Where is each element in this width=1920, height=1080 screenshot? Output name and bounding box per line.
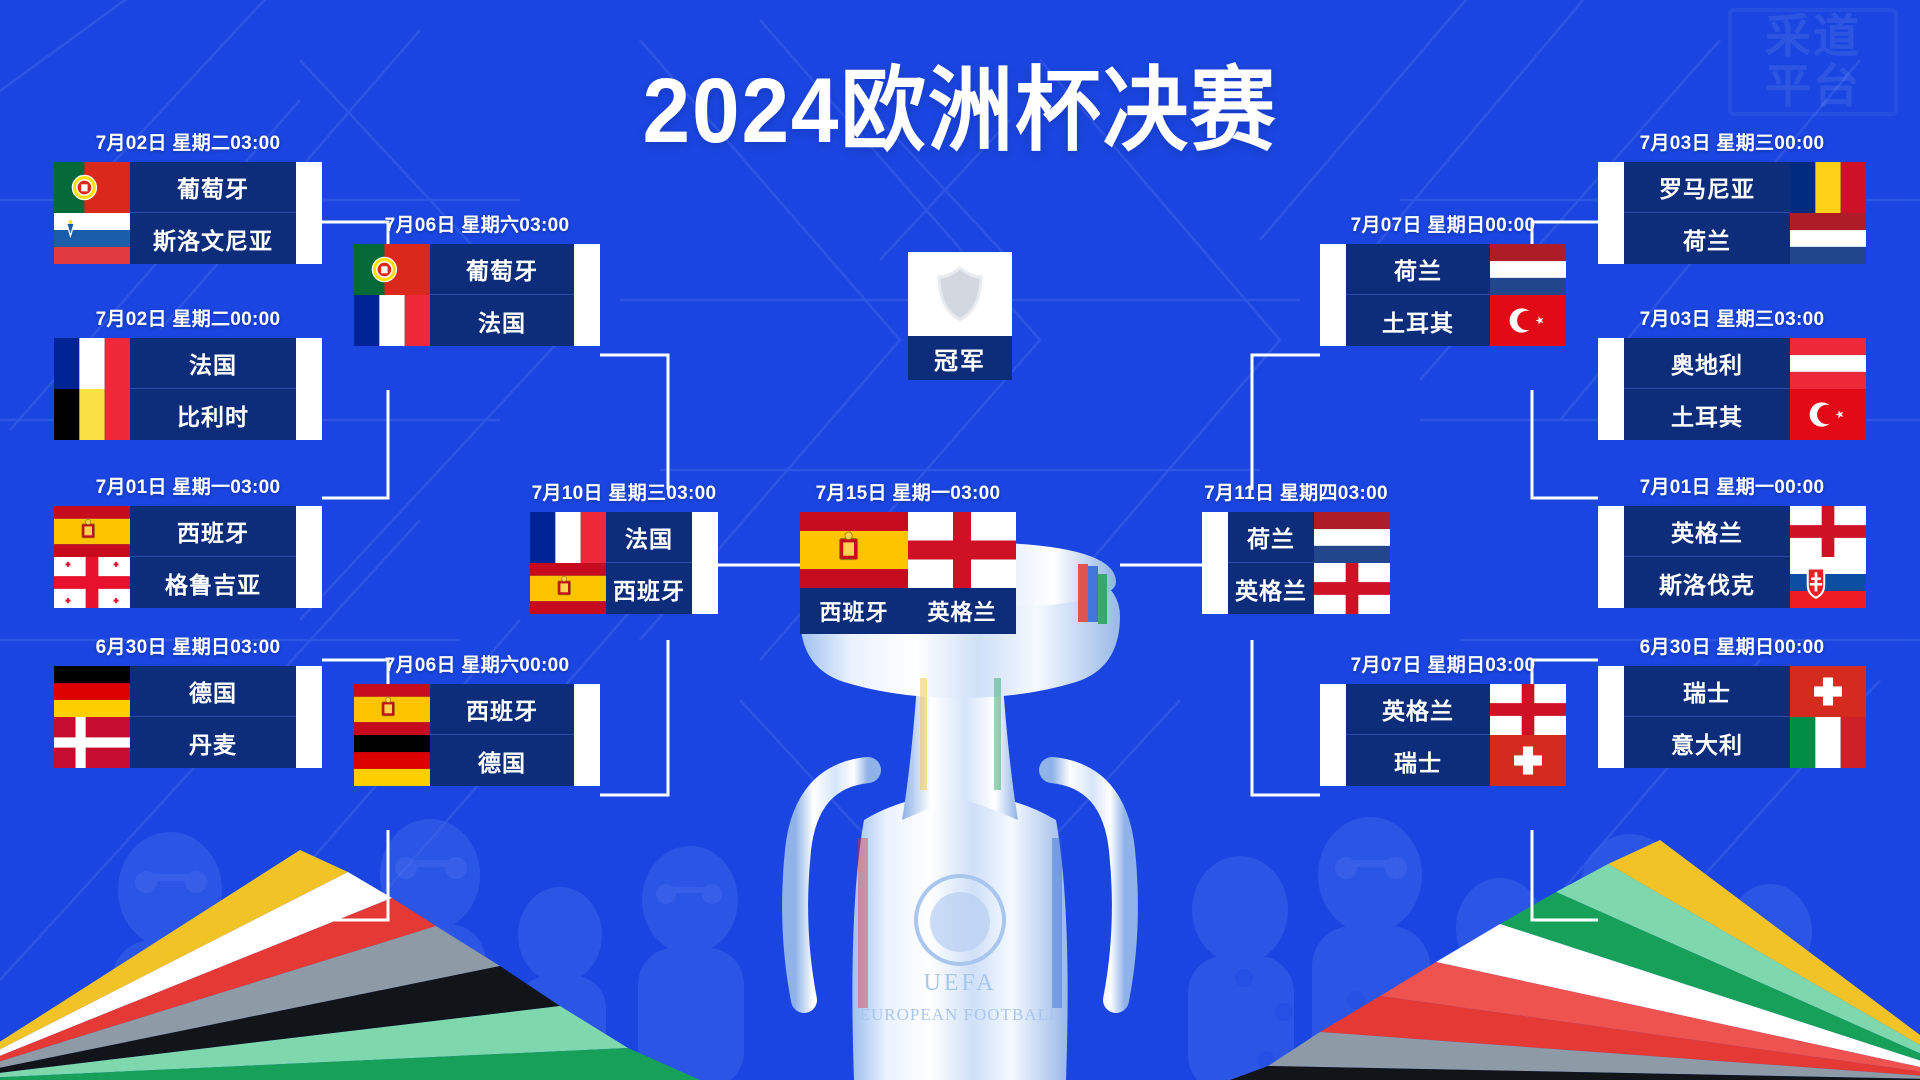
- team-flag: [354, 295, 430, 346]
- team-flag: [354, 735, 430, 786]
- row-tail: [1598, 666, 1624, 717]
- match-date: 7月11日 星期四03:00: [1202, 478, 1390, 505]
- row-tail: [692, 512, 718, 563]
- row-tail: [692, 563, 718, 614]
- row-tail: [574, 295, 600, 346]
- match-date: 7月06日 星期六00:00: [354, 650, 600, 677]
- table-row[interactable]: 英格兰: [1202, 563, 1390, 614]
- team-flag: [1490, 295, 1566, 346]
- match-date: 7月10日 星期三03:00: [530, 478, 718, 505]
- match-date: 7月07日 星期日00:00: [1320, 210, 1566, 237]
- table-row[interactable]: 法国: [354, 295, 600, 346]
- team-flag: [1490, 244, 1566, 295]
- team-flag: [1790, 666, 1866, 717]
- team-flag: [1790, 557, 1866, 608]
- row-tail: [1598, 506, 1624, 557]
- row-tail: [1598, 717, 1624, 768]
- table-row[interactable]: 土耳其: [1320, 295, 1566, 346]
- table-row[interactable]: 西班牙: [354, 684, 600, 735]
- shield-placeholder-icon: [934, 264, 986, 324]
- match-left-qf-1[interactable]: 7月06日 星期六03:00 葡萄牙 法国: [354, 210, 600, 346]
- match-left-semifinal[interactable]: 7月10日 星期三03:00 法国 西班牙: [530, 478, 718, 614]
- row-tail: [296, 213, 322, 264]
- table-row[interactable]: 斯洛文尼亚: [54, 213, 322, 264]
- row-tail: [296, 666, 322, 717]
- row-tail: [1320, 295, 1346, 346]
- table-row[interactable]: 德国: [54, 666, 322, 717]
- champion-label: 冠军: [908, 336, 1012, 380]
- match-date: 7月07日 星期日03:00: [1320, 650, 1566, 677]
- table-row[interactable]: 葡萄牙: [354, 244, 600, 295]
- row-tail: [296, 162, 322, 213]
- table-row[interactable]: 西班牙: [54, 506, 322, 557]
- final-away-name: 英格兰: [908, 588, 1016, 634]
- row-tail: [1598, 389, 1624, 440]
- team-name: 斯洛文尼亚: [130, 213, 296, 264]
- table-row[interactable]: 丹麦: [54, 717, 322, 768]
- team-flag: [54, 213, 130, 264]
- team-name: 西班牙: [130, 506, 296, 557]
- match-right-qf-1[interactable]: 7月07日 星期日00:00 荷兰 土耳其: [1320, 210, 1566, 346]
- table-row[interactable]: 斯洛伐克: [1598, 557, 1866, 608]
- team-name: 西班牙: [606, 563, 692, 614]
- team-flag: [54, 506, 130, 557]
- table-row[interactable]: 荷兰: [1598, 213, 1866, 264]
- champion-trophy-box: [908, 252, 1012, 336]
- team-flag: [54, 162, 130, 213]
- team-name: 西班牙: [430, 684, 574, 735]
- team-flag: [1790, 338, 1866, 389]
- team-name: 英格兰: [1624, 506, 1790, 557]
- team-name: 土耳其: [1624, 389, 1790, 440]
- match-right-qf-2[interactable]: 7月07日 星期日03:00 英格兰 瑞士: [1320, 650, 1566, 786]
- match-right-r16-3[interactable]: 7月01日 星期一00:00 英格兰 斯洛伐克: [1598, 472, 1866, 608]
- team-flag: [1490, 684, 1566, 735]
- team-name: 荷兰: [1624, 213, 1790, 264]
- row-tail: [1598, 557, 1624, 608]
- team-flag: [54, 717, 130, 768]
- team-name: 法国: [430, 295, 574, 346]
- row-tail: [574, 684, 600, 735]
- match-date: 6月30日 星期日03:00: [54, 632, 322, 659]
- team-flag: [1790, 389, 1866, 440]
- row-tail: [574, 244, 600, 295]
- team-name: 比利时: [130, 389, 296, 440]
- team-name: 葡萄牙: [430, 244, 574, 295]
- table-row[interactable]: 德国: [354, 735, 600, 786]
- team-flag: [1314, 512, 1390, 563]
- team-name: 奥地利: [1624, 338, 1790, 389]
- team-name: 瑞士: [1624, 666, 1790, 717]
- team-name: 葡萄牙: [130, 162, 296, 213]
- match-left-qf-2[interactable]: 7月06日 星期六00:00 西班牙 德国: [354, 650, 600, 786]
- row-tail: [1320, 684, 1346, 735]
- team-flag: [1790, 162, 1866, 213]
- match-right-r16-4[interactable]: 6月30日 星期日00:00 瑞士 意大利: [1598, 632, 1866, 768]
- team-flag: [530, 563, 606, 614]
- table-row[interactable]: 格鲁吉亚: [54, 557, 322, 608]
- match-right-r16-2[interactable]: 7月03日 星期三03:00 奥地利 土耳其: [1598, 304, 1866, 440]
- table-row[interactable]: 土耳其: [1598, 389, 1866, 440]
- match-left-r16-2[interactable]: 7月02日 星期二00:00 法国 比利时: [54, 304, 322, 440]
- row-tail: [296, 389, 322, 440]
- team-name: 丹麦: [130, 717, 296, 768]
- team-flag: [54, 389, 130, 440]
- team-name: 法国: [606, 512, 692, 563]
- team-flag: [354, 244, 430, 295]
- match-date: 7月01日 星期一00:00: [1598, 472, 1866, 499]
- row-tail: [574, 735, 600, 786]
- row-tail: [296, 338, 322, 389]
- team-flag: [1790, 717, 1866, 768]
- table-row[interactable]: 罗马尼亚: [1598, 162, 1866, 213]
- team-name: 荷兰: [1228, 512, 1314, 563]
- final-match-date: 7月15日 星期一03:00: [800, 478, 1016, 505]
- page-title: 2024欧洲杯决赛: [67, 36, 1853, 169]
- team-name: 土耳其: [1346, 295, 1490, 346]
- row-tail: [296, 506, 322, 557]
- table-row[interactable]: 瑞士: [1320, 735, 1566, 786]
- team-name: 德国: [430, 735, 574, 786]
- row-tail: [1320, 735, 1346, 786]
- team-name: 罗马尼亚: [1624, 162, 1790, 213]
- final-home-name: 西班牙: [800, 588, 908, 634]
- team-flag: [354, 684, 430, 735]
- team-name: 瑞士: [1346, 735, 1490, 786]
- final-match-card[interactable]: 7月15日 星期一03:00 西班牙 英格兰: [800, 478, 1016, 634]
- team-flag: [54, 666, 130, 717]
- team-flag: [1790, 506, 1866, 557]
- team-name: 德国: [130, 666, 296, 717]
- team-name: 意大利: [1624, 717, 1790, 768]
- row-tail: [1202, 563, 1228, 614]
- team-flag: [1490, 735, 1566, 786]
- row-tail: [296, 717, 322, 768]
- team-name: 英格兰: [1228, 563, 1314, 614]
- match-date: 7月03日 星期三03:00: [1598, 304, 1866, 331]
- table-row[interactable]: 西班牙: [530, 563, 718, 614]
- table-row[interactable]: 法国: [530, 512, 718, 563]
- table-row[interactable]: 瑞士: [1598, 666, 1866, 717]
- match-date: 6月30日 星期日00:00: [1598, 632, 1866, 659]
- team-name: 荷兰: [1346, 244, 1490, 295]
- final-away-flag: [908, 512, 1016, 588]
- row-tail: [1598, 162, 1624, 213]
- table-row[interactable]: 英格兰: [1598, 506, 1866, 557]
- table-row[interactable]: 法国: [54, 338, 322, 389]
- background-color-stripes: [0, 780, 1920, 1080]
- table-row[interactable]: 葡萄牙: [54, 162, 322, 213]
- match-left-r16-3[interactable]: 7月01日 星期一03:00 西班牙 格鲁吉亚: [54, 472, 322, 608]
- row-tail: [1598, 213, 1624, 264]
- team-flag: [530, 512, 606, 563]
- row-tail: [1202, 512, 1228, 563]
- team-name: 英格兰: [1346, 684, 1490, 735]
- match-date: 7月02日 星期二00:00: [54, 304, 322, 331]
- row-tail: [1598, 338, 1624, 389]
- table-row[interactable]: 意大利: [1598, 717, 1866, 768]
- final-away-team[interactable]: 英格兰: [908, 512, 1016, 634]
- match-date: 7月06日 星期六03:00: [354, 210, 600, 237]
- team-flag: [54, 557, 130, 608]
- match-right-semifinal[interactable]: 7月11日 星期四03:00 荷兰 英格兰: [1202, 478, 1390, 614]
- team-flag: [54, 338, 130, 389]
- table-row[interactable]: 荷兰: [1320, 244, 1566, 295]
- team-flag: [1314, 563, 1390, 614]
- champion-card: 冠军: [908, 252, 1012, 380]
- final-home-team[interactable]: 西班牙: [800, 512, 908, 634]
- table-row[interactable]: 比利时: [54, 389, 322, 440]
- row-tail: [296, 557, 322, 608]
- match-left-r16-4[interactable]: 6月30日 星期日03:00 德国 丹麦: [54, 632, 322, 768]
- team-name: 法国: [130, 338, 296, 389]
- final-home-flag: [800, 512, 908, 588]
- table-row[interactable]: 奥地利: [1598, 338, 1866, 389]
- team-flag: [1790, 213, 1866, 264]
- match-date: 7月01日 星期一03:00: [54, 472, 322, 499]
- team-name: 格鲁吉亚: [130, 557, 296, 608]
- team-name: 斯洛伐克: [1624, 557, 1790, 608]
- table-row[interactable]: 英格兰: [1320, 684, 1566, 735]
- table-row[interactable]: 荷兰: [1202, 512, 1390, 563]
- row-tail: [1320, 244, 1346, 295]
